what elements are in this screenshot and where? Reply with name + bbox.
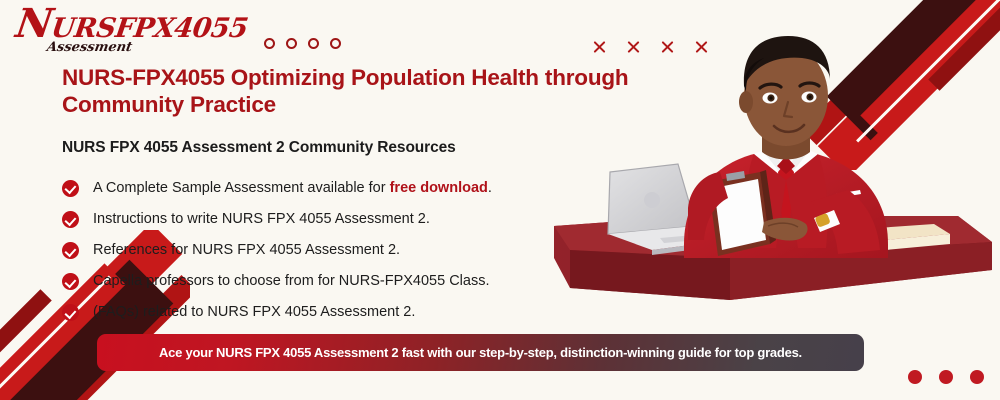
list-item-text: (FAQs) related to NURS FPX 4055 Assessme… — [93, 304, 415, 320]
list-item: A Complete Sample Assessment available f… — [62, 179, 672, 197]
list-item: References for NURS FPX 4055 Assessment … — [62, 241, 672, 259]
list-item-text: Capella professors to choose from for NU… — [93, 273, 490, 289]
dot-icon — [908, 370, 922, 384]
list-item: Instructions to write NURS FPX 4055 Asse… — [62, 210, 672, 228]
ring-icon — [308, 38, 319, 49]
list-item-label: References for NURS FPX 4055 Assessment … — [93, 241, 400, 259]
dot-icon — [939, 370, 953, 384]
ring-icon — [330, 38, 341, 49]
list-item-label: Instructions to write NURS FPX 4055 Asse… — [93, 210, 430, 228]
list-item-label: (FAQs) related to NURS FPX 4055 Assessme… — [93, 303, 415, 321]
page-subtitle: NURS FPX 4055 Assessment 2 Community Res… — [62, 139, 672, 157]
list-item-text: A Complete Sample Assessment available f… — [93, 180, 390, 196]
logo-wordmark: NURSFPX4055 — [8, 8, 188, 42]
content-block: NURS-FPX4055 Optimizing Population Healt… — [62, 64, 672, 335]
page-title: NURS-FPX4055 Optimizing Population Healt… — [62, 64, 672, 119]
list-item: Capella professors to choose from for NU… — [62, 272, 672, 290]
list-item: (FAQs) related to NURS FPX 4055 Assessme… — [62, 303, 672, 321]
cta-text: Ace your NURS FPX 4055 Assessment 2 fast… — [159, 345, 802, 360]
dot-decoration-group — [908, 370, 984, 384]
ring-decoration-group — [264, 38, 341, 49]
check-circle-icon — [62, 211, 79, 228]
person — [684, 36, 888, 258]
list-item-text: Instructions to write NURS FPX 4055 Asse… — [93, 211, 430, 227]
list-item-text: References for NURS FPX 4055 Assessment … — [93, 242, 400, 258]
feature-list: A Complete Sample Assessment available f… — [62, 179, 672, 322]
brand-logo[interactable]: NURSFPX4055 Assessment — [10, 8, 185, 70]
check-circle-icon — [62, 242, 79, 259]
ring-icon — [286, 38, 297, 49]
cta-banner[interactable]: Ace your NURS FPX 4055 Assessment 2 fast… — [97, 334, 864, 371]
list-item-label: A Complete Sample Assessment available f… — [93, 179, 492, 197]
list-item-highlight: free download — [390, 180, 488, 196]
dot-icon — [970, 370, 984, 384]
decor-stripe — [0, 289, 52, 400]
list-item-text-tail: . — [488, 180, 492, 196]
list-item-label: Capella professors to choose from for NU… — [93, 272, 490, 290]
logo-subtitle: Assessment — [9, 40, 187, 55]
check-circle-icon — [62, 304, 79, 321]
check-circle-icon — [62, 273, 79, 290]
ring-icon — [264, 38, 275, 49]
check-circle-icon — [62, 180, 79, 197]
promo-banner: NURSFPX4055 Assessment — [0, 0, 1000, 400]
